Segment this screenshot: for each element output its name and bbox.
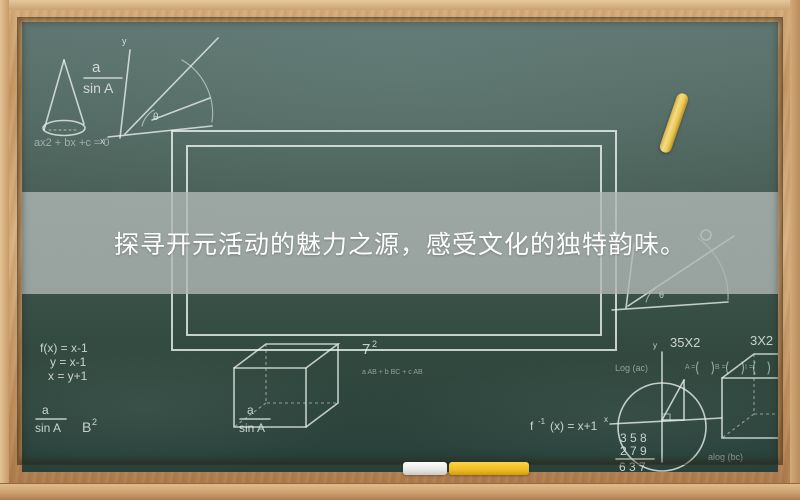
chalk-matrix-i: I = xyxy=(745,364,753,371)
law-of-sines-bottom-center: a sin A xyxy=(239,403,270,435)
frame-bevel-top xyxy=(0,0,800,10)
chalk-matrix-b: B = xyxy=(715,364,726,371)
chalk-matrix-a: A = xyxy=(685,364,695,371)
b-squared: B 2 xyxy=(82,417,97,435)
chalk-frac-num-2: a xyxy=(247,403,254,417)
law-of-sines-left: a sin A xyxy=(83,59,122,96)
chalk-frac-num-1: a xyxy=(42,403,49,417)
chalk-sum-line-2: 2 7 9 xyxy=(620,444,647,458)
headline-text: 探寻开元活动的魅力之源，感受文化的独特韵味。 xyxy=(114,225,686,261)
chalk-text-inverse-fn: f xyxy=(530,419,534,433)
chalk-circle-axis-x: x xyxy=(604,415,608,424)
chalk-sum-line-1: 3 5 8 xyxy=(620,431,647,445)
caption-band: 探寻开元活动的魅力之源，感受文化的独特韵味。 xyxy=(22,192,778,294)
law-of-sines-bottom-left: a sin A xyxy=(35,403,66,435)
chalk-text-log-ac: Log (ac) xyxy=(615,363,648,373)
chalk-text-fx: f(x) = x-1 xyxy=(40,341,88,355)
chalk-text-sinA-den: sin A xyxy=(83,80,114,96)
chalk-sum-result: 6 3 7 xyxy=(619,460,646,472)
white-chalk-icon xyxy=(403,462,447,475)
frame-bottom-ledge xyxy=(0,483,800,500)
chalk-axis-label-x: x xyxy=(100,136,105,146)
function-equations-center: f(x) = x-1 y = x-1 x = y+1 xyxy=(40,341,88,383)
chalk-text-vector-eq: a AB + b BC + c AB xyxy=(362,369,423,376)
chalk-text-inverse-rest: (x) = x+1 xyxy=(550,419,598,433)
chalk-text-log-bc: alog (bc) xyxy=(708,452,743,462)
chalk-circle-axis-y: y xyxy=(653,341,657,350)
frame-bevel-left xyxy=(0,0,9,500)
chalk-text-mul-2: 3X2 xyxy=(750,333,773,348)
frame-bevel-right xyxy=(790,0,800,500)
chalk-text-x-eq: x = y+1 xyxy=(48,369,88,383)
yellow-chalk-icon xyxy=(449,462,529,475)
chalk-angle-label-theta: θ xyxy=(153,112,159,123)
chalkboard-banner: a sin A ax2 + bx +c = 0 y x θ f(x) = x- xyxy=(0,0,800,500)
chalk-axis-label-y: y xyxy=(122,36,127,46)
chalk-text-a-num: a xyxy=(92,59,101,76)
chalk-frac-den-1: sin A xyxy=(35,421,61,435)
chalk-text-inverse-sup: -1 xyxy=(538,417,546,426)
chalk-text-b: B xyxy=(82,419,91,435)
chalk-text-y-eq: y = x-1 xyxy=(50,355,87,369)
inverse-function-eq: f -1 (x) = x+1 xyxy=(530,417,598,433)
chalk-frac-den-2: sin A xyxy=(239,421,265,435)
chalk-text-quadratic: ax2 + bx +c = 0 xyxy=(34,137,110,149)
cone-drawing xyxy=(43,60,85,136)
vertical-addition: 3 5 8 2 7 9 6 3 7 xyxy=(616,431,654,472)
chalk-text-mul-1: 35X2 xyxy=(670,335,700,350)
chalk-text-b-exp: 2 xyxy=(92,417,97,427)
matrix-notation-row: A = B = I = xyxy=(685,362,770,374)
